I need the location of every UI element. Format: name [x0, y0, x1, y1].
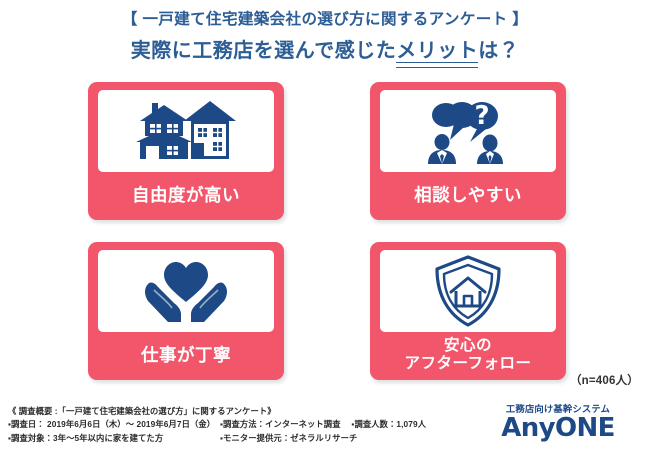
survey-overview-row: ▪調査日： 2019年6月6日（木）〜 2019年6月7日（金） ▪調査方法：イ… — [8, 418, 478, 431]
page-title-line2: 実際に工務店を選んで感じたメリットは？ — [0, 39, 650, 65]
icon-panel: ? — [380, 90, 556, 172]
survey-overview-title: 《 調査概要 :「一戸建て住宅建築会社の選び方」に関するアンケート》 — [8, 405, 478, 418]
page-header: 【 一戸建て住宅建築会社の選び方に関するアンケート 】 実際に工務店を選んで感じ… — [0, 0, 650, 65]
page-title-suffix: は？ — [478, 40, 519, 62]
merit-card-label: 相談しやすい — [370, 172, 566, 220]
icon-panel — [98, 90, 274, 172]
icon-panel — [98, 250, 274, 332]
survey-overview-footer: 《 調査概要 :「一戸建て住宅建築会社の選び方」に関するアンケート》 ▪調査日：… — [8, 405, 478, 445]
merit-card-label: 安心の アフターフォロー — [370, 332, 566, 380]
consultation-speech-bubbles-icon: ? — [420, 98, 516, 164]
survey-monitor-provider: ▪モニター提供元：ゼネラルリサーチ — [220, 432, 357, 445]
merit-card-after-follow[interactable]: 安心の アフターフォロー — [370, 242, 566, 380]
brand-logo[interactable]: 工務店向け基幹システム AnyONE — [474, 404, 642, 441]
two-houses-icon — [134, 99, 238, 163]
survey-date: ▪調査日： 2019年6月6日（木）〜 2019年6月7日（金） — [8, 418, 220, 431]
page-title-prefix: 実際に工務店を選んで感じた — [131, 40, 397, 62]
survey-method: ▪調査方法：インターネット調査 ▪調査人数：1,079人 — [220, 418, 426, 431]
logo-wordmark: AnyONE — [474, 415, 642, 441]
survey-target: ▪調査対象：3年〜5年以内に家を建てた方 — [8, 432, 220, 445]
merit-card-grid: 自由度が高い ? — [88, 82, 566, 380]
sample-size-label: （n=406人） — [570, 372, 639, 388]
page-title-emphasis: メリット — [396, 39, 478, 65]
hands-holding-heart-icon — [144, 258, 228, 324]
svg-text:?: ? — [474, 101, 489, 131]
shield-house-icon — [433, 254, 503, 328]
page-title-line1: 【 一戸建て住宅建築会社の選び方に関するアンケート 】 — [0, 11, 650, 30]
icon-panel — [380, 250, 556, 332]
merit-card-careful-work[interactable]: 仕事が丁寧 — [88, 242, 284, 380]
merit-card-label: 仕事が丁寧 — [88, 332, 284, 380]
merit-card-consultation[interactable]: ? 相談しやすい — [370, 82, 566, 220]
merit-card-freedom[interactable]: 自由度が高い — [88, 82, 284, 220]
merit-card-label: 自由度が高い — [88, 172, 284, 220]
survey-overview-row: ▪調査対象：3年〜5年以内に家を建てた方 ▪モニター提供元：ゼネラルリサーチ — [8, 432, 478, 445]
